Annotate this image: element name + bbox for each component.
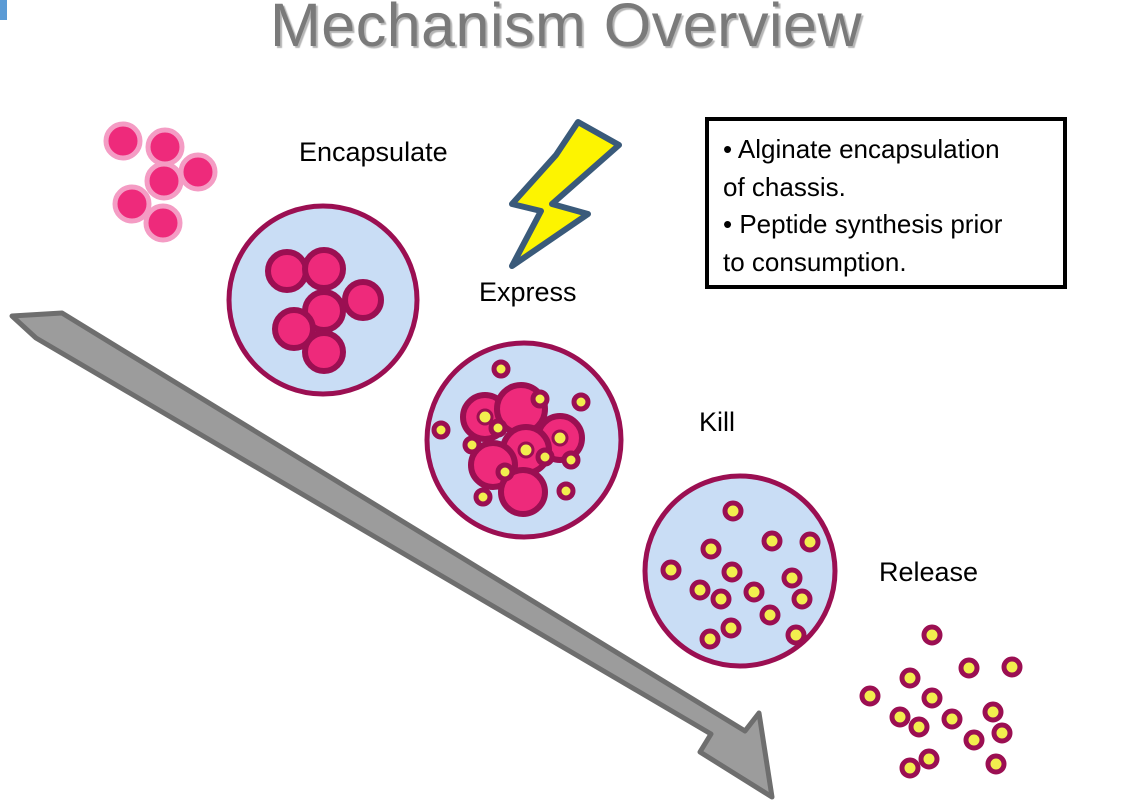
peptide — [921, 751, 937, 767]
peptide — [902, 670, 918, 686]
peptide — [574, 395, 588, 409]
intracellular-peptide — [478, 410, 492, 424]
peptide — [692, 582, 708, 598]
peptide — [465, 438, 479, 452]
peptide — [924, 627, 940, 643]
peptide — [713, 591, 729, 607]
peptide — [794, 591, 810, 607]
peptide — [564, 453, 578, 467]
peptide — [924, 690, 940, 706]
capsule-kill — [645, 476, 835, 666]
peptide — [994, 725, 1010, 741]
peptide — [788, 627, 804, 643]
intracellular-peptide — [553, 431, 567, 445]
peptide — [1004, 659, 1020, 675]
peptide — [476, 490, 490, 504]
peptide — [538, 450, 552, 464]
peptide — [762, 607, 778, 623]
free-chassis-cell — [106, 124, 140, 158]
free-chassis-cell — [181, 155, 215, 189]
chassis-cell — [345, 282, 381, 318]
capsule-encapsulate — [229, 206, 417, 394]
peptide — [663, 562, 679, 578]
peptide — [944, 711, 960, 727]
callout-line: • Alginate encapsulation — [723, 131, 1049, 169]
peptide — [724, 564, 740, 580]
peptide — [494, 362, 508, 376]
stage-label-kill: Kill — [699, 409, 735, 436]
lightning-bolt-icon — [512, 122, 619, 266]
slide-canvas: Mechanism Overview Encapsulate Express K… — [0, 0, 1132, 812]
stage-label-express: Express — [479, 279, 577, 306]
page-title: Mechanism Overview — [0, 0, 1132, 60]
callout-text-box: • Alginate encapsulation of chassis. • P… — [705, 117, 1067, 289]
peptide — [533, 392, 547, 406]
callout-line: of chassis. — [723, 169, 1049, 207]
chassis-cell — [305, 333, 343, 371]
peptide — [966, 732, 982, 748]
peptide — [498, 465, 512, 479]
callout-line: • Peptide synthesis prior — [723, 206, 1049, 244]
peptide — [961, 660, 977, 676]
chassis-cell — [268, 252, 306, 290]
intracellular-peptide — [519, 443, 533, 457]
peptide — [802, 534, 818, 550]
free-chassis-cell — [147, 164, 181, 198]
free-cell-cluster — [106, 124, 215, 240]
stage-label-encapsulate: Encapsulate — [299, 139, 448, 166]
peptide — [988, 756, 1004, 772]
peptide — [703, 541, 719, 557]
released-peptide-cluster — [862, 627, 1020, 776]
peptide — [491, 421, 505, 435]
peptide — [892, 709, 908, 725]
peptide — [746, 584, 762, 600]
peptide — [764, 533, 780, 549]
capsule-express — [427, 343, 621, 537]
peptide — [559, 484, 573, 498]
chassis-cell — [305, 250, 343, 288]
peptide — [902, 760, 918, 776]
callout-line: to consumption. — [723, 244, 1049, 282]
peptide — [434, 423, 448, 437]
free-chassis-cell — [148, 130, 182, 164]
free-chassis-cell — [146, 206, 180, 240]
peptide — [725, 503, 741, 519]
free-chassis-cell — [115, 187, 149, 221]
peptide — [702, 631, 718, 647]
peptide — [723, 620, 739, 636]
peptide — [911, 719, 927, 735]
peptide — [985, 704, 1001, 720]
stage-label-release: Release — [879, 559, 978, 586]
peptide — [862, 688, 878, 704]
peptide — [784, 570, 800, 586]
